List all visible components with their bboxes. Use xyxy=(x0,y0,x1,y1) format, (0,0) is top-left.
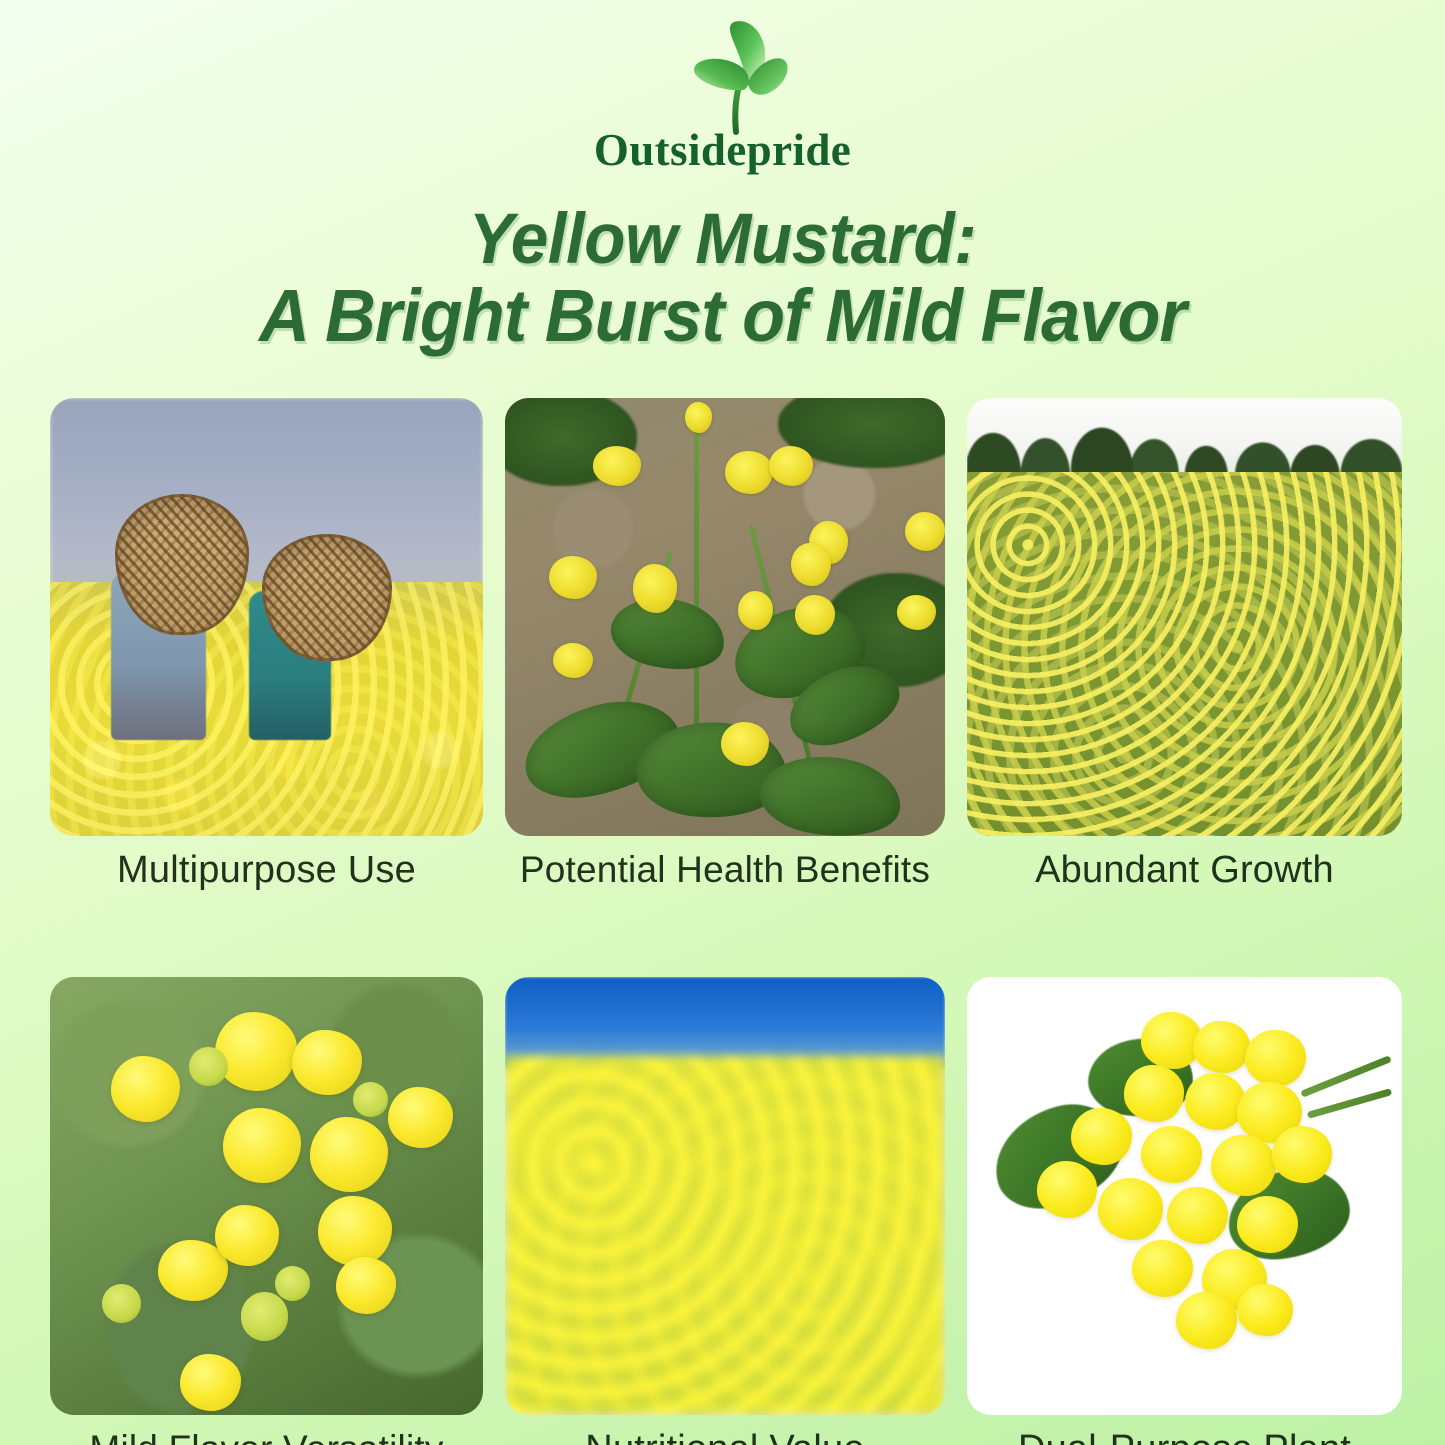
tile-caption: Abundant Growth xyxy=(967,836,1402,892)
tile-caption: Nutritional Value xyxy=(505,1415,945,1445)
grid-cell-nutritional-value: Nutritional Value xyxy=(505,977,945,1445)
photo-wide-mustard-field-treeline xyxy=(967,398,1402,836)
photo-mustard-plant-on-soil xyxy=(505,398,945,836)
feature-grid: Multipurpose Use xyxy=(50,398,1395,1445)
tile-caption: Potential Health Benefits xyxy=(505,836,945,891)
leaf-sprout-icon xyxy=(648,18,798,138)
grid-cell-dual-purpose-plant: Dual-Purpose Plant xyxy=(967,977,1402,1445)
title-line-1: Yellow Mustard: xyxy=(36,202,1409,277)
page-title: Yellow Mustard: A Bright Burst of Mild F… xyxy=(36,202,1409,356)
tile-caption: Multipurpose Use xyxy=(50,836,483,892)
title-line-2: A Bright Burst of Mild Flavor xyxy=(36,277,1409,355)
grid-cell-multipurpose-use: Multipurpose Use xyxy=(50,398,483,892)
tile-caption: Dual-Purpose Plant xyxy=(967,1415,1402,1445)
photo-harvesters-in-mustard-field xyxy=(50,398,483,836)
photo-mustard-bunch-on-white xyxy=(967,977,1402,1415)
tile-caption: Mild Flavor Versatility xyxy=(50,1415,483,1445)
grid-cell-mild-flavor-versatility: Mild Flavor Versatility xyxy=(50,977,483,1445)
photo-mustard-flower-closeup xyxy=(50,977,483,1415)
mustard-infographic: Outsidepride Yellow Mustard: A Bright Bu… xyxy=(0,0,1445,1445)
photo-mustard-flowers-blue-sky xyxy=(505,977,945,1415)
brand-name: Outsidepride xyxy=(594,124,851,176)
grid-cell-abundant-growth: Abundant Growth xyxy=(967,398,1402,892)
grid-cell-potential-health-benefits: Potential Health Benefits xyxy=(505,398,945,892)
brand-header: Outsidepride xyxy=(0,18,1445,176)
